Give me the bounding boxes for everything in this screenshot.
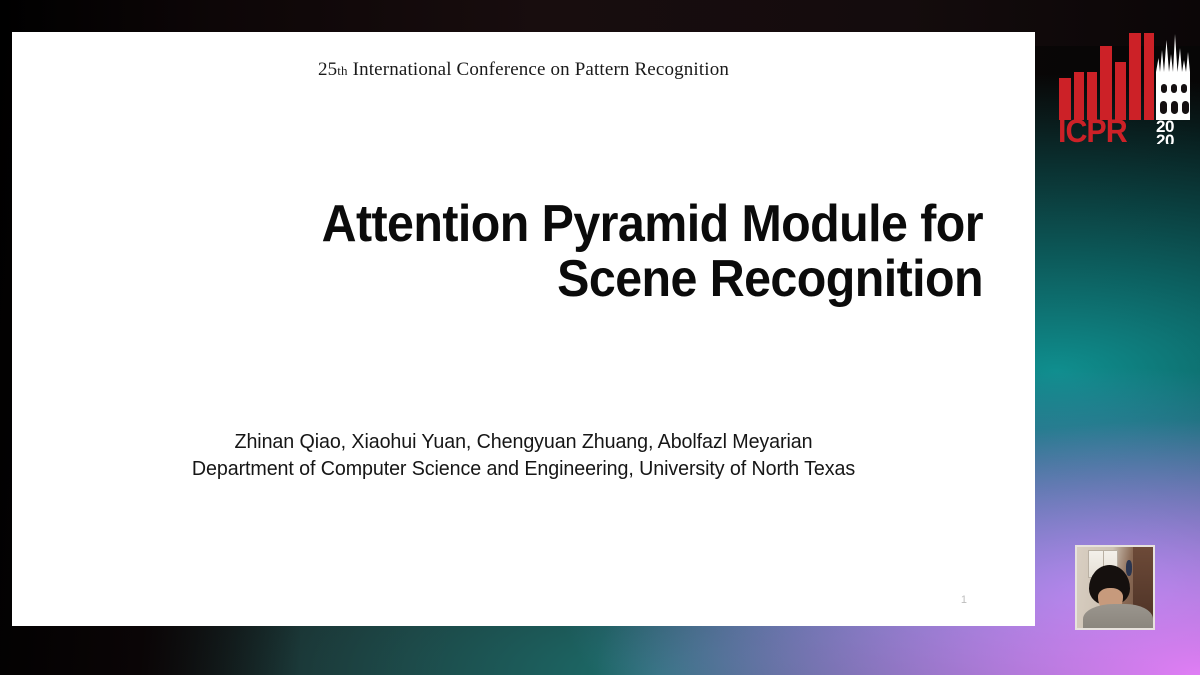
logo-bars (1059, 33, 1154, 120)
webcam-video-frame (1077, 547, 1153, 628)
page-title-line-2: Scene Recognition (117, 252, 983, 307)
logo-year-bottom: 20 (1156, 131, 1174, 144)
conference-edition-number: 25 (318, 59, 337, 80)
conference-header: 25th International Conference on Pattern… (12, 59, 1035, 81)
presentation-screen: 25th International Conference on Pattern… (0, 0, 1200, 675)
presenter-torso (1083, 604, 1153, 628)
conference-header-text: International Conference on Pattern Reco… (348, 59, 729, 80)
page-title-line-1: Attention Pyramid Module for (117, 197, 983, 252)
presenter-video-thumbnail[interactable] (1075, 545, 1155, 630)
author-list: Zhinan Qiao, Xiaohui Yuan, Chengyuan Zhu… (32, 428, 1014, 455)
icpr-logo-graphic: ICPR 20 20 (1057, 28, 1193, 144)
page-title: Attention Pyramid Module for Scene Recog… (117, 197, 983, 307)
conference-edition-ordinal: th (337, 63, 347, 78)
affiliation: Department of Computer Science and Engin… (32, 455, 1014, 482)
slide-canvas[interactable]: 25th International Conference on Pattern… (12, 32, 1035, 626)
icpr-2020-logo: ICPR 20 20 (1057, 28, 1193, 144)
slide-number: 1 (961, 594, 967, 606)
byline: Zhinan Qiao, Xiaohui Yuan, Chengyuan Zhu… (12, 428, 1035, 482)
logo-wordmark: ICPR (1058, 113, 1127, 144)
